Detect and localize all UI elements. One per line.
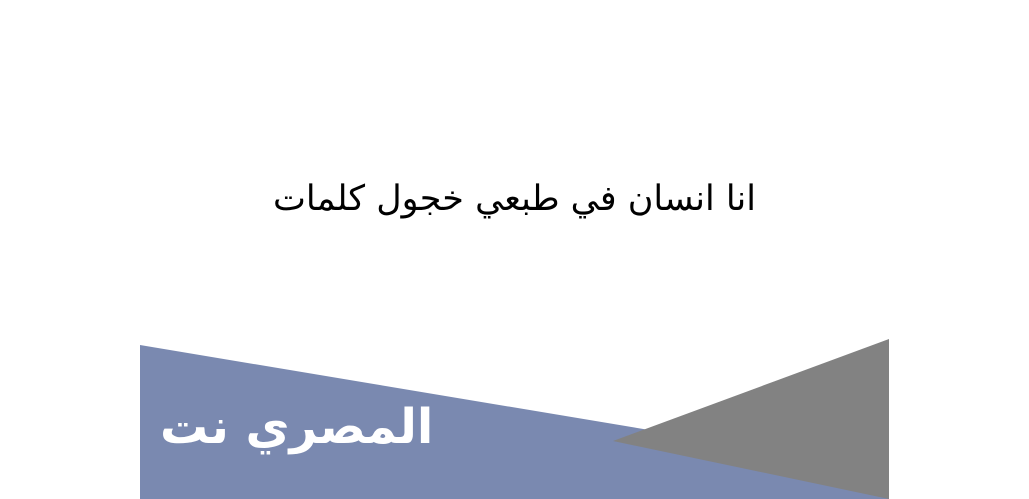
decorative-shapes [0,0,1029,499]
image-canvas: انا انسان في طبعي خجول كلمات المصري نت [0,0,1029,499]
brand-logo-text: المصري نت [160,403,433,451]
